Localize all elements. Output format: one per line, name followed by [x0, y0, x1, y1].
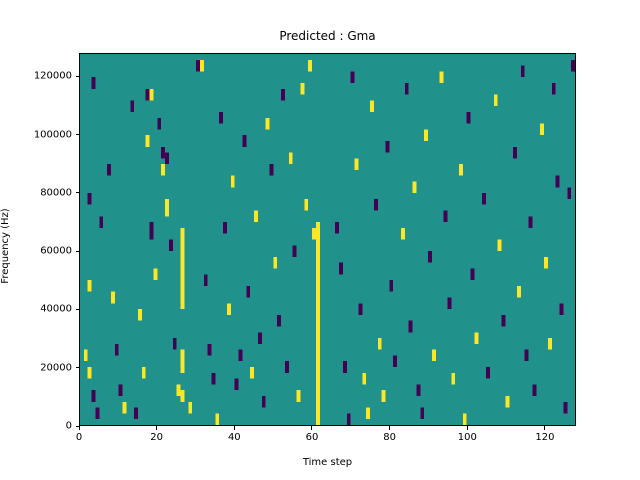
- x-axis-label: Time step: [79, 457, 576, 469]
- x-tick-label: 80: [383, 432, 396, 443]
- y-tick-label: 0: [0, 421, 72, 432]
- y-tick-mark: [76, 426, 80, 427]
- y-tick-mark: [76, 251, 80, 252]
- x-tick-mark: [467, 426, 468, 430]
- x-tick-mark: [156, 426, 157, 430]
- x-tick-mark: [311, 426, 312, 430]
- y-tick-label: 80000: [0, 187, 72, 198]
- x-tick-label: 40: [228, 432, 241, 443]
- y-tick-mark: [76, 309, 80, 310]
- y-tick-mark: [76, 192, 80, 193]
- y-axis-label-text: Frequency (Hz): [0, 208, 12, 283]
- y-tick-label: 100000: [0, 129, 72, 140]
- y-tick-mark: [76, 367, 80, 368]
- y-tick-mark: [76, 76, 80, 77]
- y-tick-label: 20000: [0, 362, 72, 373]
- heatmap-plot-area[interactable]: [79, 53, 576, 426]
- x-tick-mark: [234, 426, 235, 430]
- x-tick-label: 60: [306, 432, 319, 443]
- x-tick-label: 20: [150, 432, 163, 443]
- x-tick-mark: [544, 426, 545, 430]
- spectrogram-heatmap[interactable]: [80, 54, 575, 425]
- x-tick-label: 100: [458, 432, 477, 443]
- matplotlib-figure: Predicted : Gma 020406080100120 02000040…: [0, 0, 640, 480]
- y-tick-mark: [76, 134, 80, 135]
- x-tick-mark: [389, 426, 390, 430]
- page-title: Predicted : Gma: [79, 29, 576, 43]
- y-tick-label: 120000: [0, 71, 72, 82]
- x-tick-mark: [79, 426, 80, 430]
- x-tick-label: 120: [535, 432, 554, 443]
- y-tick-label: 40000: [0, 304, 72, 315]
- x-tick-label: 0: [76, 432, 82, 443]
